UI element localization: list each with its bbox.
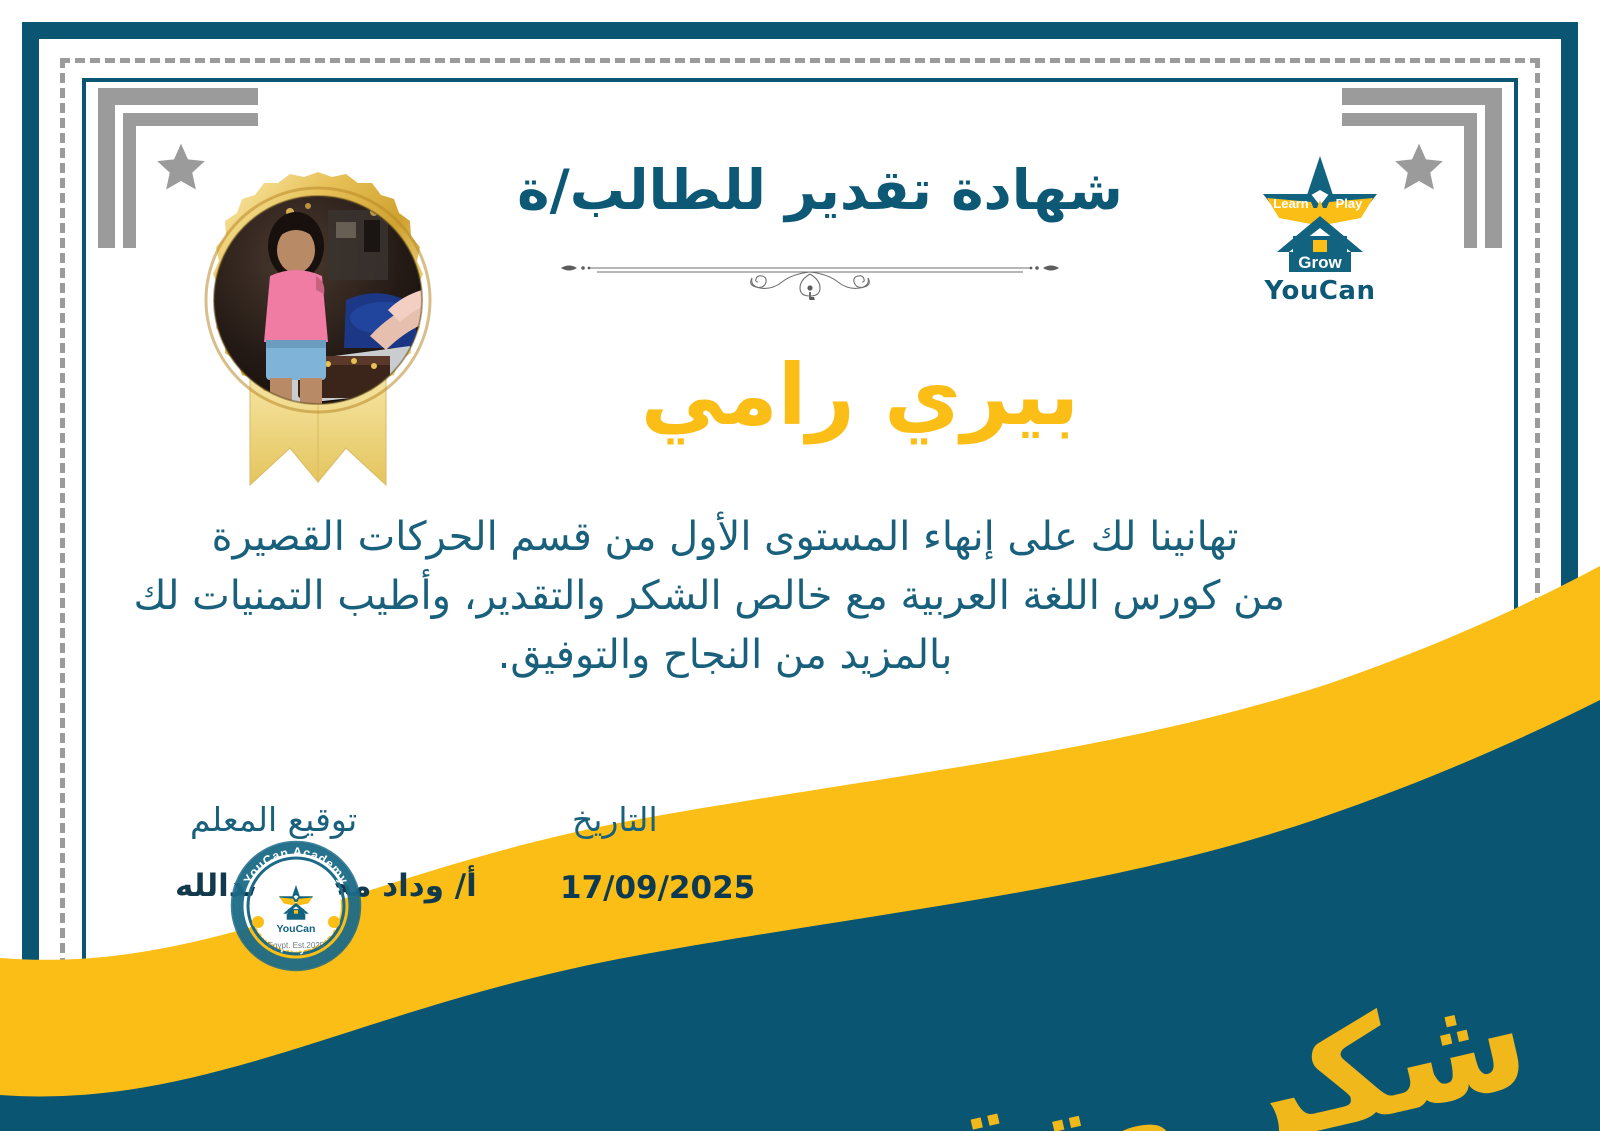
stamp-est: Egypt. Est.2025 <box>268 941 325 950</box>
logo-learn-label: Learn <box>1273 196 1308 211</box>
certificate-title: شهادة تقدير للطالب/ة <box>470 160 1170 221</box>
youcan-logo: Grow Learn Play YouCan <box>1235 152 1405 327</box>
date-label: التاريخ <box>572 800 658 839</box>
youcan-star-icon: Grow Learn Play <box>1255 152 1385 274</box>
ornamental-divider <box>545 248 1075 300</box>
student-photo-rosette-badge <box>178 150 458 495</box>
logo-grow-label: Grow <box>1298 253 1342 272</box>
body-line-3: بالمزيد من النجاح والتوفيق. <box>165 626 1285 685</box>
certificate-body: تهانينا لك على إنهاء المستوى الأول من قس… <box>165 508 1285 686</box>
certificate-page: شهادة تقدير للطالب/ة <box>0 0 1600 1131</box>
date-value: 17/09/2025 <box>560 870 755 906</box>
student-name: بيري رامي <box>520 345 1200 446</box>
official-stamp: YouCan Academy Learn.play . Grow YouCan … <box>228 838 364 974</box>
body-line-1: تهانينا لك على إنهاء المستوى الأول من قس… <box>165 508 1285 567</box>
signature-label: توقيع المعلم <box>190 800 357 839</box>
body-line-2: من كورس اللغة العربية مع خالص الشكر والت… <box>165 567 1285 626</box>
logo-wordmark: YouCan <box>1235 276 1405 306</box>
stamp-brand: YouCan <box>277 923 316 935</box>
logo-play-label: Play <box>1336 196 1364 211</box>
